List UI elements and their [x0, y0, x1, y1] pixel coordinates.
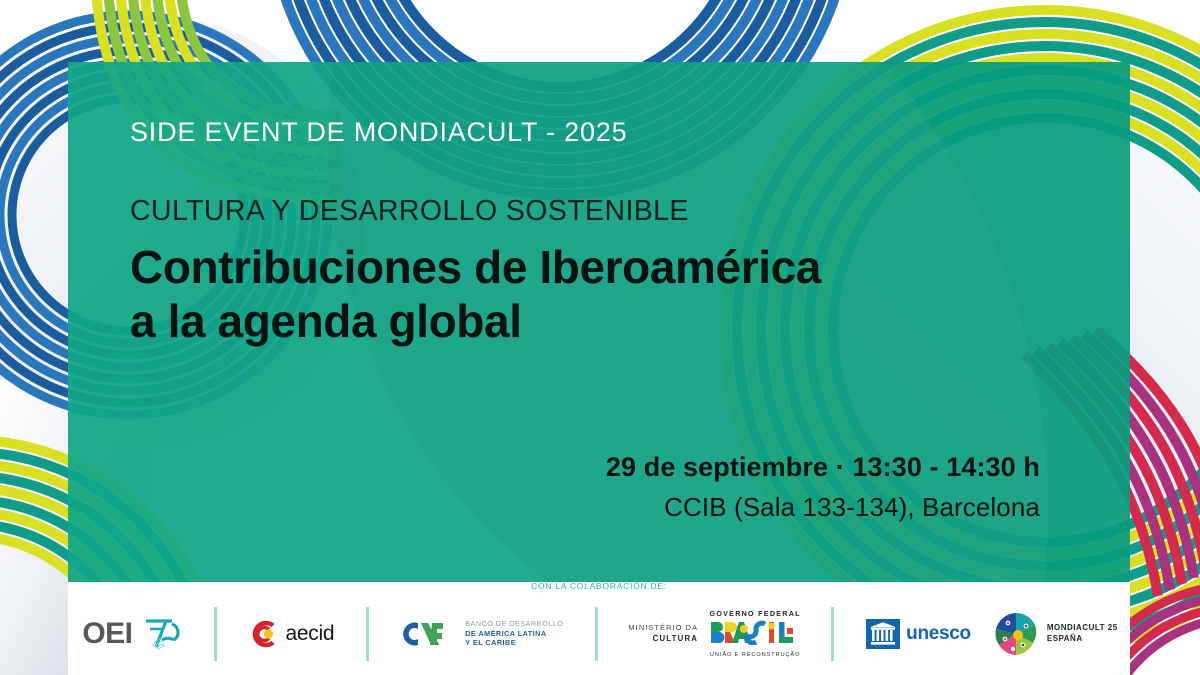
content-panel: SIDE EVENT DE MONDIACULT - 2025 CULTURA …	[68, 62, 1130, 582]
brasil-federal-government-logo: GOVERNO FEDERAL	[709, 610, 801, 658]
event-details: 29 de septiembre · 13:30 - 14:30 h CCIB …	[606, 450, 1040, 524]
logo-ministerio-cultura-brasil: MINISTÉRIO DA CULTURA GOVERNO FEDERAL	[628, 610, 801, 658]
event-subtitle: CULTURA Y DESARROLLO SOSTENIBLE	[130, 196, 1068, 227]
event-poster: SIDE EVENT DE MONDIACULT - 2025 CULTURA …	[0, 0, 1200, 675]
logo-unesco: unesco	[866, 619, 971, 649]
ministerio-line-2: CULTURA	[628, 633, 698, 645]
logo-mondiacult: MONDIACULT 25 ESPAÑA	[993, 611, 1118, 657]
brasil-wordmark-icon	[709, 620, 801, 645]
oei-75-anniversary-icon	[142, 615, 182, 653]
event-date-time: 29 de septiembre · 13:30 - 14:30 h	[606, 450, 1040, 485]
caf-tagline-1: BANCO DE DESARROLLO	[465, 619, 563, 629]
aecid-wordmark: aecid	[286, 622, 335, 646]
unesco-wordmark: unesco	[906, 623, 971, 645]
mondiacult-line-2: ESPAÑA	[1047, 634, 1118, 645]
unesco-temple-icon	[866, 619, 900, 649]
footer-logo-bar: CON LA COLABORACIÓN DE: OEI	[68, 582, 1130, 675]
oei-wordmark: OEI	[82, 619, 132, 649]
caf-tagline-3: Y EL CARIBE	[465, 638, 563, 648]
event-headline-line-1: Contribuciones de Iberoamérica	[130, 239, 1068, 297]
event-venue: CCIB (Sala 133-134), Barcelona	[606, 491, 1040, 525]
collaboration-label: CON LA COLABORACIÓN DE:	[68, 581, 1130, 591]
logo-separator-3	[595, 607, 598, 661]
logo-separator-1	[214, 607, 217, 661]
aecid-emblem-icon	[249, 619, 279, 649]
logo-separator-4	[831, 607, 834, 661]
caf-tagline-2: DE AMÉRICA LATINA	[465, 629, 563, 639]
logo-caf: BANCO DE DESARROLLO DE AMÉRICA LATINA Y …	[401, 619, 563, 649]
logo-row: OEI	[68, 596, 1130, 671]
logo-separator-2	[366, 607, 369, 661]
logo-oei: OEI	[82, 615, 181, 653]
caf-emblem-icon	[401, 619, 457, 649]
event-eyebrow: SIDE EVENT DE MONDIACULT - 2025	[130, 118, 1068, 148]
brasil-governo-federal-label: GOVERNO FEDERAL	[709, 610, 801, 618]
mondiacult-line-1: MONDIACULT 25	[1047, 623, 1118, 634]
event-headline-line-2: a la agenda global	[130, 293, 1068, 351]
brasil-slogan: UNIÃO E RECONSTRUÇÃO	[709, 652, 801, 658]
ministerio-line-1: MINISTÉRIO DA	[628, 622, 698, 633]
mondiacult-globe-icon	[993, 611, 1039, 657]
logo-aecid: aecid	[249, 619, 335, 649]
